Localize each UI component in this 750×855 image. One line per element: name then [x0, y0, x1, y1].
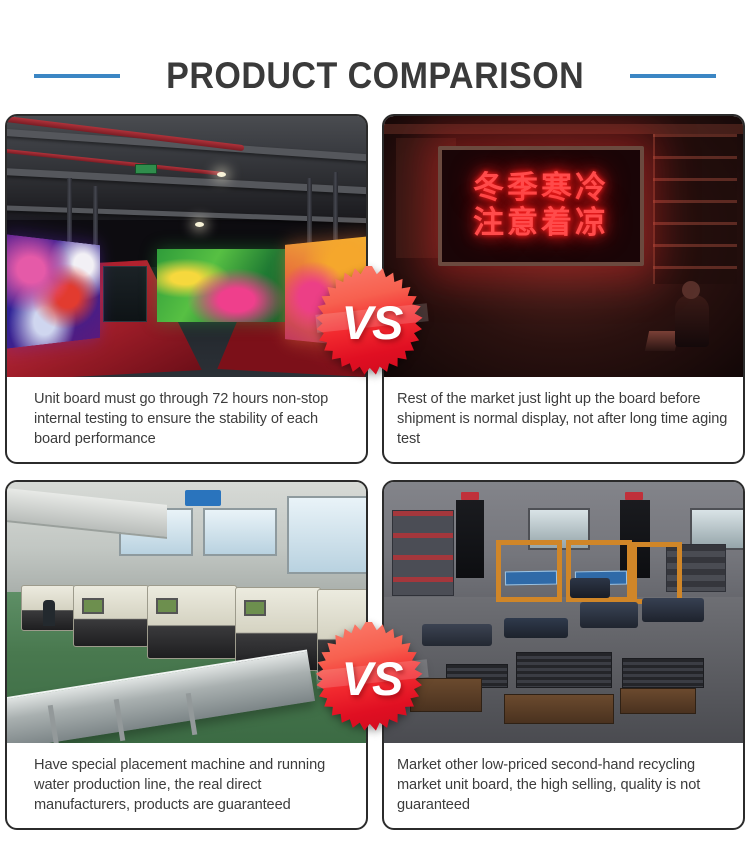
worker-silhouette — [43, 600, 55, 626]
storage-shelf — [653, 134, 737, 284]
equipment-stand — [632, 542, 682, 604]
stand-sign — [505, 571, 557, 586]
exit-sign — [625, 492, 643, 500]
led-sign-board: 冬季寒冷 注意着凉 — [438, 146, 644, 266]
smt-machine — [147, 585, 237, 659]
photo-smt-production-line: WIN OVER ! — [7, 482, 366, 743]
comparison-panel-bottom-right: Market other low-priced second-hand recy… — [382, 480, 745, 830]
vs-badge-top: VS — [316, 266, 428, 378]
vs-badge-bottom: VS — [316, 622, 428, 734]
photo-led-showroom: WIN OVER ! — [7, 116, 366, 377]
led-sign-line-1: 冬季寒冷 — [473, 172, 609, 205]
doorway — [456, 500, 484, 578]
exit-sign — [135, 164, 157, 174]
machine-monitor — [156, 598, 178, 614]
board-pile — [504, 618, 568, 638]
panel-caption: Market other low-priced second-hand recy… — [384, 743, 743, 828]
exit-sign — [461, 492, 479, 500]
board-stack — [516, 652, 612, 688]
vs-label: VS — [342, 295, 403, 350]
board-pile — [642, 598, 704, 622]
panel-caption: Rest of the market just light up the boa… — [384, 377, 743, 462]
machine-monitor — [82, 598, 104, 614]
vs-label: VS — [342, 651, 403, 706]
led-video-wall-center — [157, 249, 285, 322]
header-rule-left — [34, 74, 120, 78]
header-rule-right — [630, 74, 716, 78]
overhead-sign — [185, 490, 221, 506]
equipment-stand — [496, 540, 562, 602]
machine-monitor — [244, 600, 266, 616]
photo-second-hand-warehouse — [384, 482, 743, 743]
factory-window — [287, 496, 366, 574]
doorway — [103, 266, 147, 322]
page-header: PRODUCT COMPARISON — [0, 48, 750, 104]
panel-caption: Unit board must go through 72 hours non-… — [7, 377, 366, 462]
product-comparison-page: PRODUCT COMPARISON — [0, 0, 750, 855]
comparison-panel-top-left: WIN OVER ! Unit board must go through 72… — [5, 114, 368, 464]
wooden-crate — [620, 688, 696, 714]
ceiling-lamp — [217, 172, 226, 177]
factory-window — [203, 508, 277, 556]
worker-silhouette — [675, 295, 709, 347]
led-video-wall-left — [7, 234, 100, 349]
board-pile — [580, 602, 638, 628]
board-pile — [570, 578, 610, 598]
comparison-panel-bottom-left: WIN OVER ! Have special placement machin… — [5, 480, 368, 830]
ceiling-lamp — [195, 222, 204, 227]
page-title: PRODUCT COMPARISON — [166, 55, 584, 97]
smt-machine — [73, 585, 149, 647]
board-stack — [622, 658, 704, 688]
led-sign-line-2: 注意着凉 — [473, 207, 609, 240]
photo-led-sign-workshop: 冬季寒冷 注意着凉 — [384, 116, 743, 377]
comparison-panel-top-right: 冬季寒冷 注意着凉 Rest of the market just light … — [382, 114, 745, 464]
storage-rack — [392, 510, 454, 596]
background-beam — [384, 124, 743, 134]
panel-caption: Have special placement machine and runni… — [7, 743, 366, 828]
wooden-crate — [504, 694, 614, 724]
board-pile — [422, 624, 492, 646]
laptop — [645, 331, 679, 351]
